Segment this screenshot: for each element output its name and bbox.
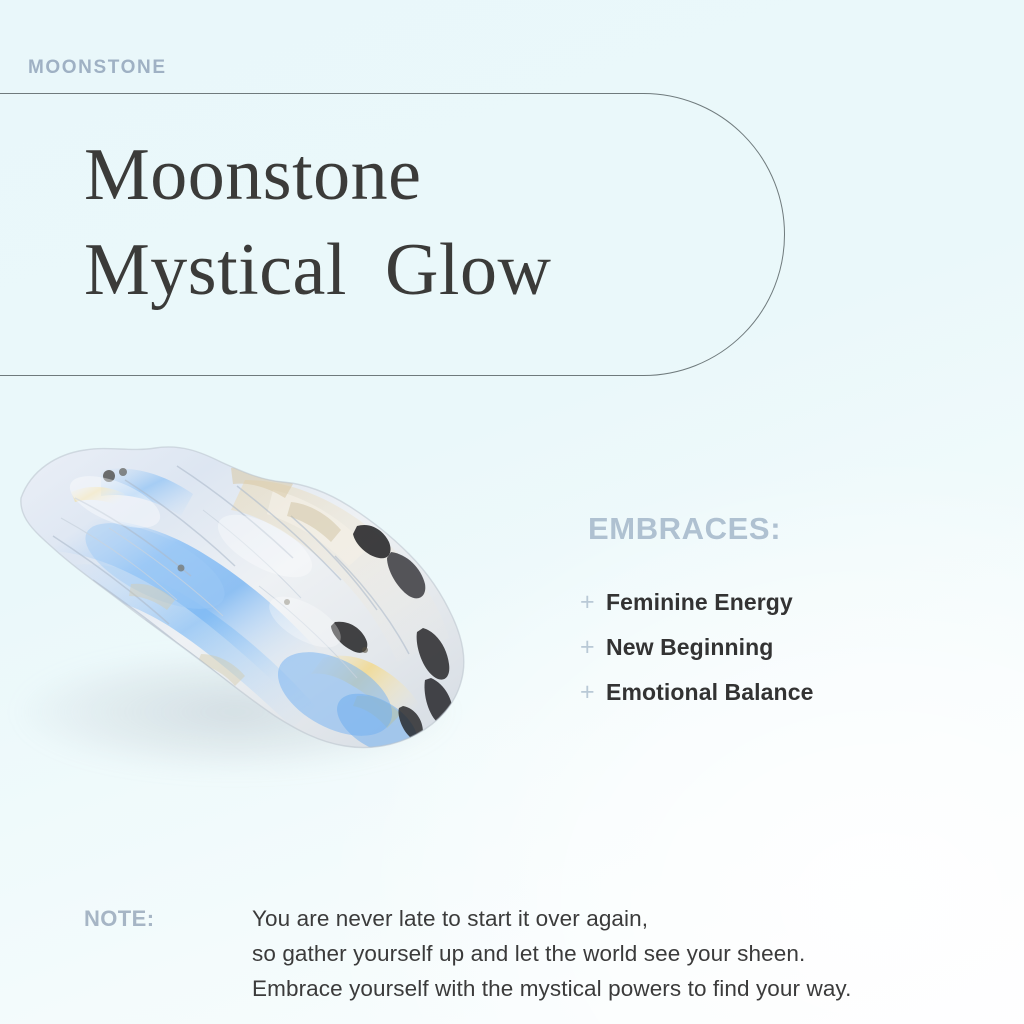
plus-icon: + bbox=[580, 635, 606, 660]
plus-icon: + bbox=[580, 590, 606, 615]
note-section: NOTE: You are never late to start it ove… bbox=[84, 902, 984, 1007]
note-line: Embrace yourself with the mystical power… bbox=[252, 972, 984, 1007]
note-line: You are never late to start it over agai… bbox=[252, 902, 984, 937]
title-line-2: Mystical Glow bbox=[84, 223, 724, 318]
title-line-1: Moonstone bbox=[84, 128, 724, 223]
embraces-heading: EMBRACES: bbox=[588, 512, 988, 546]
note-label: NOTE: bbox=[84, 902, 252, 935]
embraces-section: EMBRACES: + Feminine Energy + New Beginn… bbox=[588, 512, 988, 722]
list-item-label: New Beginning bbox=[606, 633, 773, 662]
page-title: Moonstone Mystical Glow bbox=[84, 128, 724, 317]
list-item-label: Emotional Balance bbox=[606, 678, 813, 707]
list-item: + Emotional Balance bbox=[580, 678, 988, 707]
list-item-label: Feminine Energy bbox=[606, 588, 793, 617]
moonstone-photo bbox=[0, 392, 540, 802]
page-eyebrow-label: MOONSTONE bbox=[28, 58, 167, 77]
note-line: so gather yourself up and let the world … bbox=[252, 937, 984, 972]
plus-icon: + bbox=[580, 680, 606, 705]
note-body: You are never late to start it over agai… bbox=[252, 902, 984, 1007]
list-item: + New Beginning bbox=[580, 633, 988, 662]
list-item: + Feminine Energy bbox=[580, 588, 988, 617]
moonstone-crystal-illustration bbox=[5, 406, 505, 778]
embraces-list: + Feminine Energy + New Beginning + Emot… bbox=[588, 588, 988, 706]
poster-canvas: MOONSTONE Moonstone Mystical Glow bbox=[0, 0, 1024, 1024]
